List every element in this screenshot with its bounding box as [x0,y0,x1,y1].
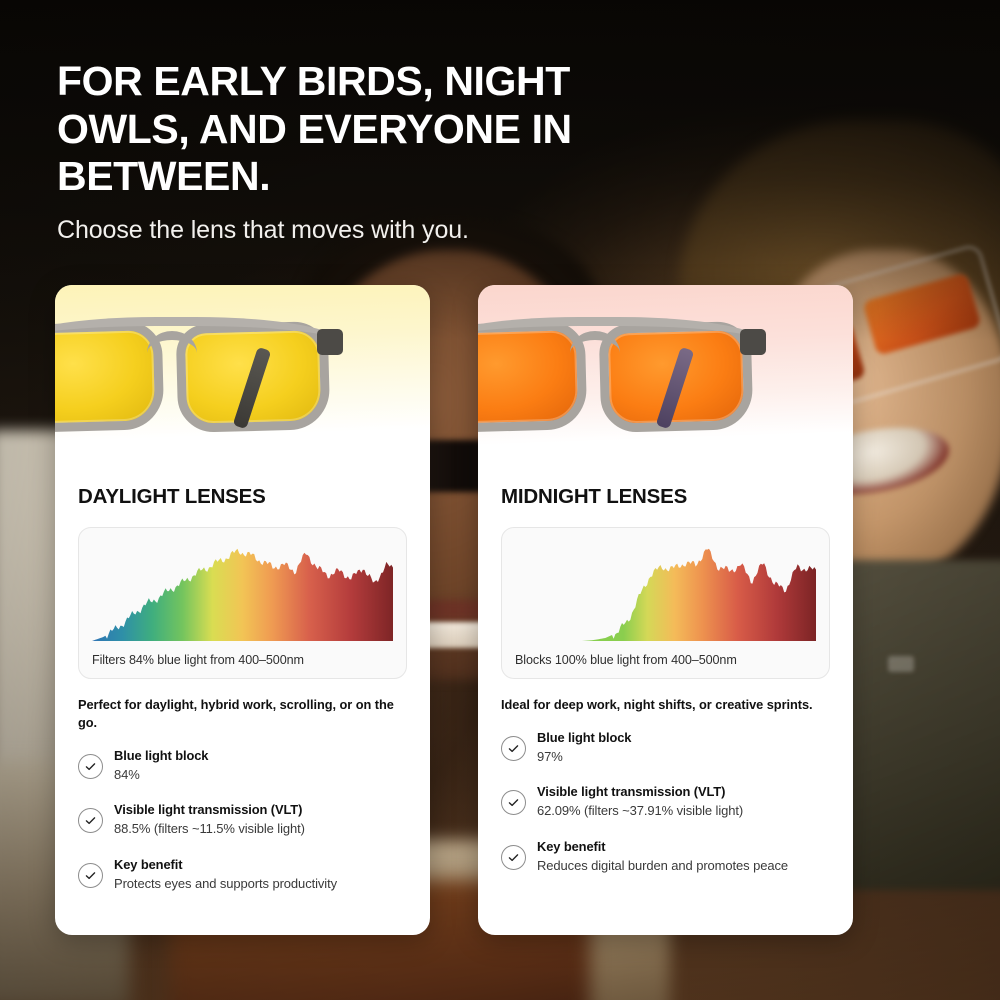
card-title-daylight: DAYLIGHT LENSES [78,485,407,509]
page-headline: FOR EARLY BIRDS, NIGHT OWLS, AND EVERYON… [57,58,677,201]
feature-list-midnight: Blue light block 97% Visible light trans… [501,729,830,876]
feature-label: Key benefit [114,857,182,872]
card-body-daylight: DAYLIGHT LENSES [55,463,430,893]
check-circle-icon [501,845,526,870]
spectrum-chart-midnight [515,541,816,641]
card-product-image-midnight [478,285,853,463]
card-lede-midnight: Ideal for deep work, night shifts, or cr… [501,696,830,714]
glasses-illustration-midnight [478,307,853,447]
feature-item: Visible light transmission (VLT) 62.09% … [501,783,830,821]
spectrum-svg-daylight [92,541,393,641]
hero-copy: FOR EARLY BIRDS, NIGHT OWLS, AND EVERYON… [57,58,677,245]
spectrum-caption-midnight: Blocks 100% blue light from 400–500nm [515,653,816,667]
feature-label: Key benefit [537,839,605,854]
feature-value: 62.09% (filters ~37.91% visible light) [537,803,743,818]
card-lede-daylight: Perfect for daylight, hybrid work, scrol… [78,696,407,732]
glasses-illustration-daylight [55,307,430,447]
check-circle-icon [501,736,526,761]
feature-item: Key benefit Reduces digital burden and p… [501,838,830,876]
card-product-image-daylight [55,285,430,463]
check-circle-icon [78,754,103,779]
spectrum-svg-midnight [515,541,816,641]
page-subheadline: Choose the lens that moves with you. [57,216,677,245]
product-card-daylight[interactable]: DAYLIGHT LENSES [55,285,430,935]
feature-value: Protects eyes and supports productivity [114,876,337,891]
frame-hinge [740,329,766,355]
feature-item: Key benefit Protects eyes and supports p… [78,856,407,894]
feature-label: Visible light transmission (VLT) [114,802,302,817]
check-circle-icon [78,863,103,888]
spectrum-panel-midnight: Blocks 100% blue light from 400–500nm [501,527,830,679]
frame-hinge [317,329,343,355]
check-circle-icon [501,790,526,815]
card-title-midnight: MIDNIGHT LENSES [501,485,830,509]
frame-brow-bar [55,317,341,343]
feature-value: 88.5% (filters ~11.5% visible light) [114,821,305,836]
check-circle-icon [78,808,103,833]
feature-value: 84% [114,767,140,782]
feature-value: 97% [537,749,563,764]
spectrum-caption-daylight: Filters 84% blue light from 400–500nm [92,653,393,667]
feature-value: Reduces digital burden and promotes peac… [537,858,788,873]
feature-item: Visible light transmission (VLT) 88.5% (… [78,801,407,839]
spectrum-chart-daylight [92,541,393,641]
feature-item: Blue light block 97% [501,729,830,767]
feature-list-daylight: Blue light block 84% Visible light trans… [78,747,407,894]
feature-label: Visible light transmission (VLT) [537,784,725,799]
product-card-midnight[interactable]: MIDNIGHT LENSES [478,285,853,935]
card-body-midnight: MIDNIGHT LENSES [478,463,853,876]
spectrum-panel-daylight: Filters 84% blue light from 400–500nm [78,527,407,679]
feature-label: Blue light block [537,730,631,745]
feature-item: Blue light block 84% [78,747,407,785]
feature-label: Blue light block [114,748,208,763]
frame-brow-bar [478,317,764,343]
